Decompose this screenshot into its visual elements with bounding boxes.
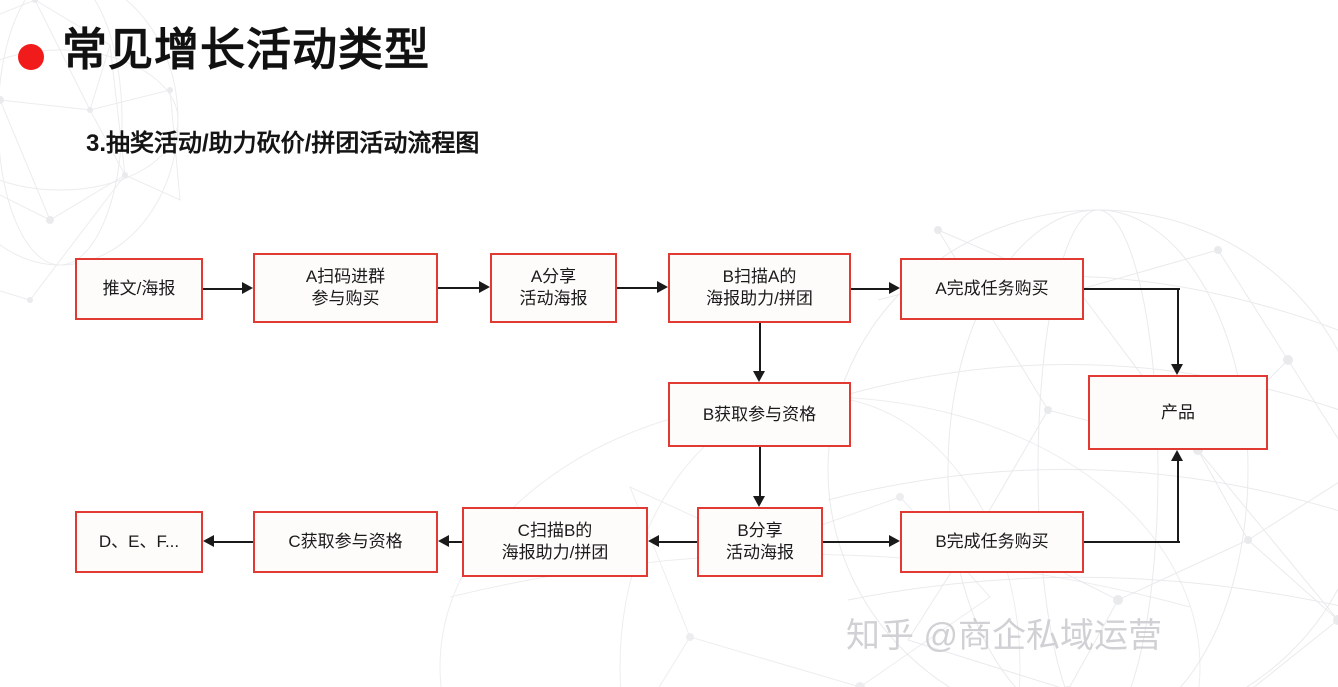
watermark: 知乎 @商企私域运营 xyxy=(846,608,1162,657)
flow-node-n2[interactable]: A扫码进群 参与购买 xyxy=(253,253,438,323)
connector-n9-n8 xyxy=(214,541,253,543)
connector-n11-n12 xyxy=(823,541,889,543)
connector-n10-n9 xyxy=(449,541,462,543)
flow-node-n4[interactable]: B扫描A的 海报助力/拼团 xyxy=(668,253,851,323)
connector-n5-n7-head xyxy=(1171,364,1183,375)
connector-n4-n5-head xyxy=(889,282,900,294)
connector-n6-n11 xyxy=(759,447,761,496)
connector-n5-n7-seg2 xyxy=(1177,289,1179,364)
flow-node-n6[interactable]: B获取参与资格 xyxy=(668,382,851,447)
connector-n12-n7-head xyxy=(1171,450,1183,461)
connector-n12-n7-seg1 xyxy=(1084,541,1180,543)
flow-node-n3[interactable]: A分享 活动海报 xyxy=(490,253,617,323)
flow-node-n9[interactable]: C获取参与资格 xyxy=(253,511,438,573)
flow-node-n1[interactable]: 推文/海报 xyxy=(75,258,203,320)
connector-n3-n4-head xyxy=(657,281,668,293)
connector-n10-n9-head xyxy=(438,535,449,547)
flow-node-n7[interactable]: 产品 xyxy=(1088,375,1268,450)
connector-n2-n3 xyxy=(438,287,479,289)
connector-n11-n10-head xyxy=(648,535,659,547)
section-subtitle: 3.抽奖活动/助力砍价/拼团活动流程图 xyxy=(86,123,479,158)
connector-n12-n7-seg2 xyxy=(1177,461,1179,542)
page-title: 常见增长活动类型 xyxy=(62,23,430,77)
flow-node-n8[interactable]: D、E、F... xyxy=(75,511,203,573)
connector-n4-n6 xyxy=(759,323,761,371)
connector-n9-n8-head xyxy=(203,535,214,547)
connector-n2-n3-head xyxy=(479,281,490,293)
connector-n11-n10 xyxy=(659,541,697,543)
flow-node-n11[interactable]: B分享 活动海报 xyxy=(697,507,823,577)
connector-n11-n12-head xyxy=(889,535,900,547)
connector-n3-n4 xyxy=(617,287,657,289)
connector-n4-n6-head xyxy=(753,371,765,382)
slide-canvas: 常见增长活动类型 3.抽奖活动/助力砍价/拼团活动流程图 推文/海报A扫码进群 … xyxy=(0,0,1338,687)
connector-n5-n7-seg1 xyxy=(1084,288,1180,290)
connector-n1-n2 xyxy=(203,288,242,290)
title-bullet-icon xyxy=(18,44,44,70)
flow-node-n10[interactable]: C扫描B的 海报助力/拼团 xyxy=(462,507,648,577)
flow-node-n5[interactable]: A完成任务购买 xyxy=(900,258,1084,320)
flow-node-n12[interactable]: B完成任务购买 xyxy=(900,511,1084,573)
connector-n4-n5 xyxy=(851,288,889,290)
connector-n1-n2-head xyxy=(242,282,253,294)
connector-n6-n11-head xyxy=(753,496,765,507)
